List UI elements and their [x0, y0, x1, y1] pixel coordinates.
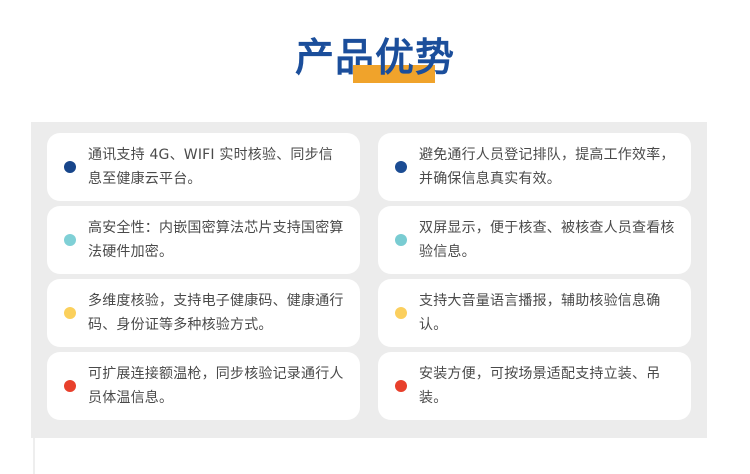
page-title-container: 产品优势: [0, 34, 750, 90]
advantage-card-text: 双屏显示，便于核查、被核查人员查看核验信息。: [419, 216, 675, 264]
advantage-card: 支持大音量语言播报，辅助核验信息确认。: [378, 279, 691, 347]
advantage-card-text: 安装方便，可按场景适配支持立装、吊装。: [419, 362, 675, 410]
bullet-dot-navy-icon: [64, 161, 76, 173]
advantage-card-text: 可扩展连接额温枪，同步核验记录通行人员体温信息。: [88, 362, 344, 410]
bullet-dot-navy-icon: [395, 161, 407, 173]
advantage-card-text: 避免通行人员登记排队，提高工作效率，并确保信息真实有效。: [419, 143, 675, 191]
advantage-card-text: 支持大音量语言播报，辅助核验信息确认。: [419, 289, 675, 337]
advantage-card: 双屏显示，便于核查、被核查人员查看核验信息。: [378, 206, 691, 274]
advantage-card: 通讯支持 4G、WIFI 实时核验、同步信息至健康云平台。: [47, 133, 360, 201]
bullet-dot-red-icon: [395, 380, 407, 392]
advantage-card-text: 通讯支持 4G、WIFI 实时核验、同步信息至健康云平台。: [88, 143, 344, 191]
advantage-card-text: 多维度核验，支持电子健康码、健康通行码、身份证等多种核验方式。: [88, 289, 344, 337]
bullet-dot-red-icon: [64, 380, 76, 392]
bullet-dot-yellow-icon: [395, 307, 407, 319]
advantage-card: 避免通行人员登记排队，提高工作效率，并确保信息真实有效。: [378, 133, 691, 201]
left-divider-rule: [33, 438, 35, 474]
bullet-dot-teal-icon: [64, 234, 76, 246]
advantage-card: 安装方便，可按场景适配支持立装、吊装。: [378, 352, 691, 420]
advantages-card-grid: 通讯支持 4G、WIFI 实时核验、同步信息至健康云平台。避免通行人员登记排队，…: [47, 133, 691, 420]
advantage-card: 多维度核验，支持电子健康码、健康通行码、身份证等多种核验方式。: [47, 279, 360, 347]
advantage-card: 可扩展连接额温枪，同步核验记录通行人员体温信息。: [47, 352, 360, 420]
page-title: 产品优势: [295, 34, 455, 84]
bullet-dot-teal-icon: [395, 234, 407, 246]
advantage-card-text: 高安全性：内嵌国密算法芯片支持国密算法硬件加密。: [88, 216, 344, 264]
page-title-highlight: 优势: [375, 37, 455, 80]
advantage-card: 高安全性：内嵌国密算法芯片支持国密算法硬件加密。: [47, 206, 360, 274]
bullet-dot-yellow-icon: [64, 307, 76, 319]
product-advantages-page: 产品优势 通讯支持 4G、WIFI 实时核验、同步信息至健康云平台。避免通行人员…: [0, 0, 750, 474]
